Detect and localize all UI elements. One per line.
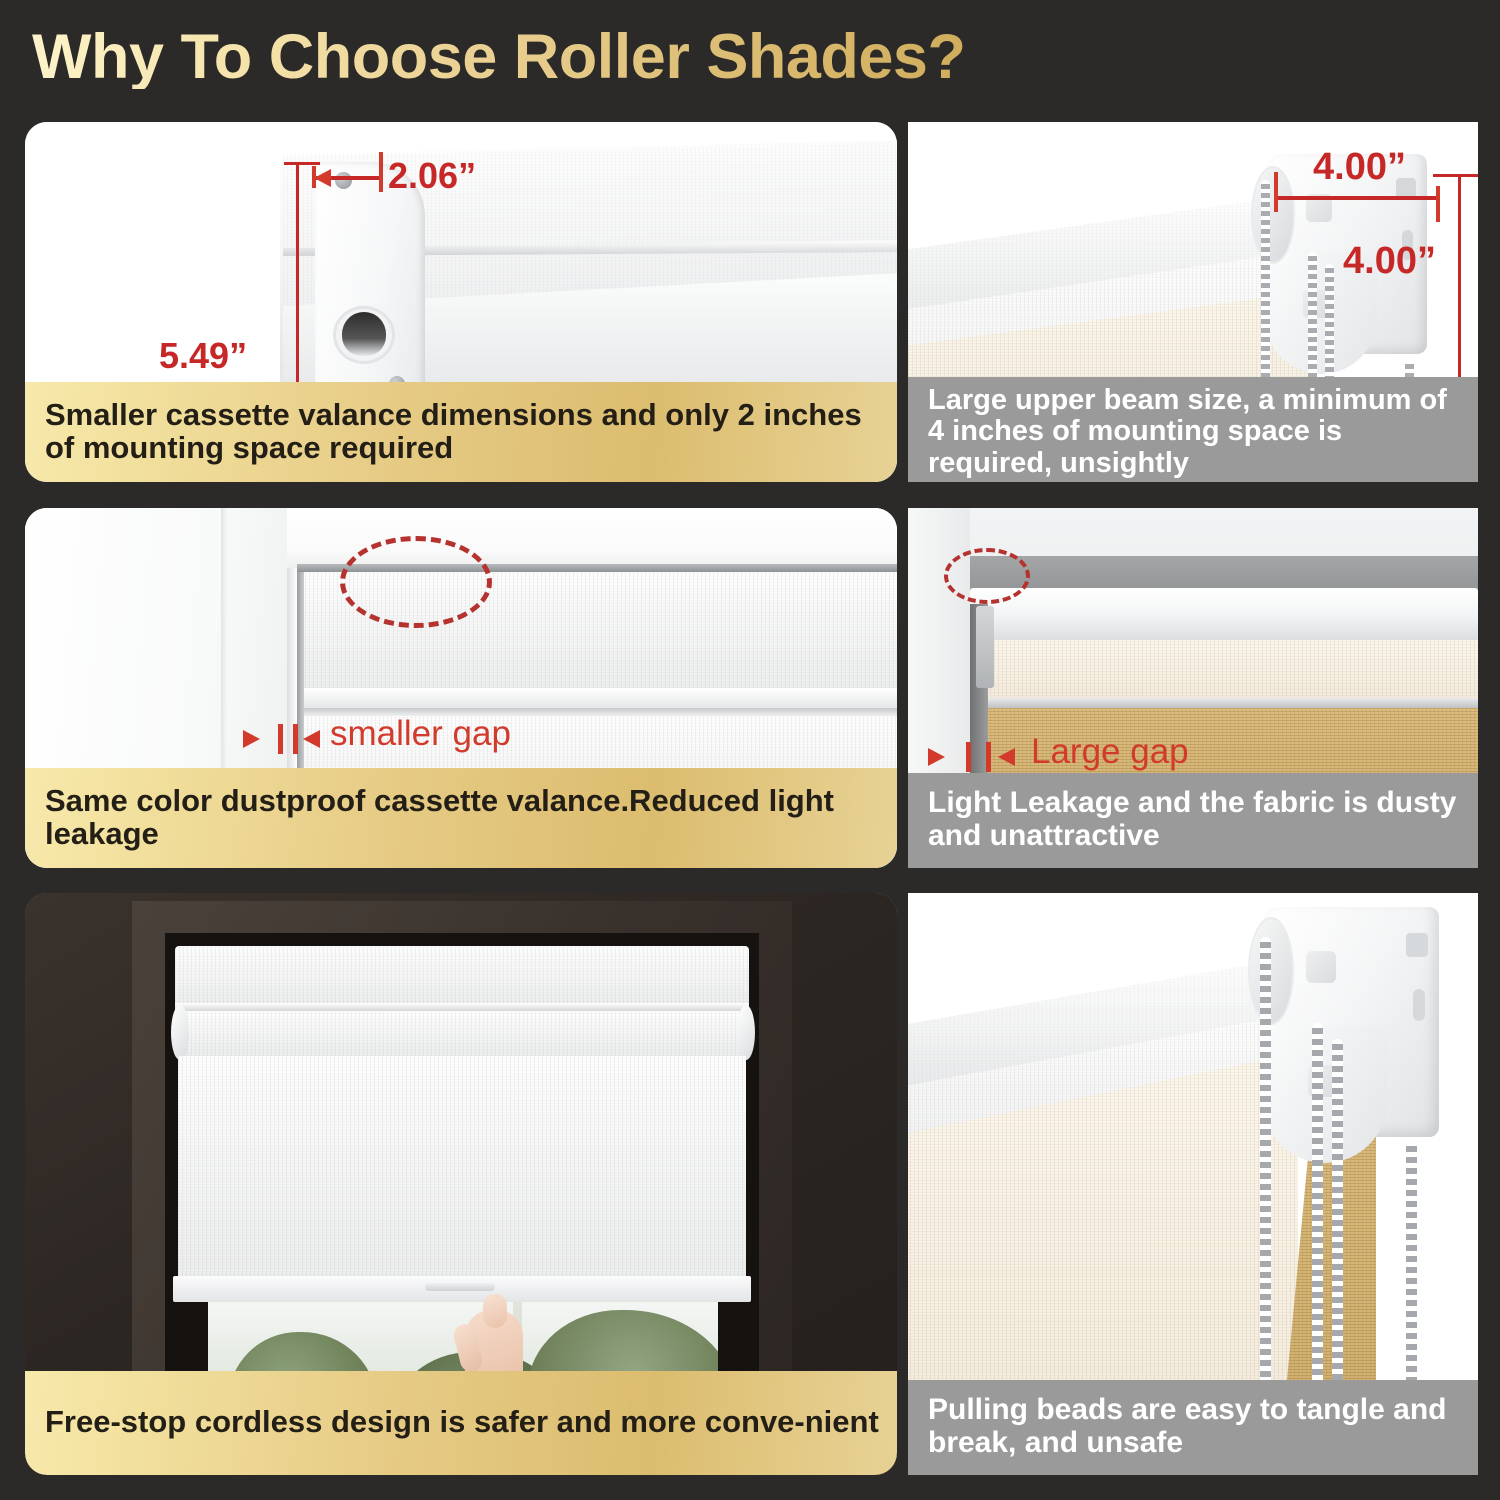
gap-tick-b [293, 724, 298, 754]
beam-height-cap-top [1433, 174, 1478, 177]
cassette-right-cap [737, 1005, 755, 1060]
large-gap-label: Large gap [1031, 732, 1189, 772]
cassette-left-cap [171, 1005, 189, 1060]
width-dim-arrow-left [314, 169, 331, 187]
panel-5-caption: Free-stop cordless design is safer and m… [25, 1371, 897, 1475]
roller-end-disc [1251, 166, 1295, 264]
width-dimension-label: 2.06” [388, 155, 476, 197]
large-gap-tick-a [966, 742, 971, 772]
panel-large-upper-beam: 4.00” 4.00” Large upper beam size, a min… [908, 122, 1478, 482]
valance-bottom-lip [297, 688, 897, 710]
panel-3-caption-text: Same color dustproof cassette valance.Re… [45, 784, 879, 851]
cordless-cassette-valance [175, 946, 749, 1008]
panel-6-caption: Pulling beads are easy to tangle and bre… [908, 1380, 1478, 1475]
large-gap-tick-b [986, 742, 991, 772]
exposed-roller-tube [970, 588, 1478, 644]
smaller-gap-label: smaller gap [330, 714, 511, 754]
beam-width-tick-left [1274, 172, 1278, 212]
fabric-lower-edge [970, 698, 1478, 708]
large-gap-arrow-right [998, 748, 1015, 766]
cordless-shade-fabric [178, 1056, 746, 1281]
panel-pulling-beads: Pulling beads are easy to tangle and bre… [908, 893, 1478, 1475]
page-title: Why To Choose Roller Shades? [32, 26, 965, 89]
large-gap-arrow-left [928, 748, 945, 766]
panel-3-caption: Same color dustproof cassette valance.Re… [25, 768, 897, 868]
panel-light-leakage: Large gap Light Leakage and the fabric i… [908, 508, 1478, 868]
bead-bracket-emboss-a [1306, 951, 1336, 983]
exposed-bracket [976, 606, 994, 688]
panel-1-caption-text: Smaller cassette valance dimensions and … [45, 398, 879, 465]
title-bar: Why To Choose Roller Shades? [0, 0, 1500, 118]
hand-finger [483, 1294, 507, 1328]
bracket-ring [333, 306, 395, 364]
panel-4-caption-text: Light Leakage and the fabric is dusty an… [928, 787, 1460, 852]
beam-width-dim-bar [1276, 196, 1438, 200]
height-dim-cap-top [284, 162, 320, 165]
bead-bracket-slot-a [1406, 933, 1428, 957]
cream-valance-fabric [970, 640, 1478, 702]
beam-width-label: 4.00” [1313, 146, 1406, 189]
panel-1-caption: Smaller cassette valance dimensions and … [25, 382, 897, 482]
bead-bracket-slot-b [1413, 989, 1425, 1021]
panel-4-caption: Light Leakage and the fabric is dusty an… [908, 773, 1478, 868]
panel-cordless-design: Free-stop cordless design is safer and m… [25, 893, 897, 1475]
beam-width-tick-right [1436, 186, 1440, 222]
panel-2-caption-text: Large upper beam size, a minimum of 4 in… [928, 385, 1460, 479]
bead-roller-end-disc [1248, 917, 1294, 1025]
gap-highlight-ellipse [944, 548, 1030, 604]
cassette-lower-roll [175, 1011, 749, 1056]
panel-smaller-cassette: 2.06” 5.49” Smaller cassette valance dim… [25, 122, 897, 482]
gap-tick-a [278, 724, 283, 754]
panel-2-caption: Large upper beam size, a minimum of 4 in… [908, 377, 1478, 482]
detail-highlight-ellipse [340, 536, 492, 628]
panel-5-caption-text: Free-stop cordless design is safer and m… [45, 1405, 879, 1438]
top-screw-icon [335, 172, 352, 189]
gap-arrow-right [303, 730, 320, 748]
beam-height-label: 4.00” [1343, 240, 1436, 283]
panel-dustproof-valance: smaller gap Same color dustproof cassett… [25, 508, 897, 868]
panel-6-caption-text: Pulling beads are easy to tangle and bre… [928, 1394, 1460, 1459]
width-dim-tick-right [379, 152, 383, 192]
height-dimension-label: 5.49” [159, 335, 247, 377]
gap-arrow-left [243, 730, 260, 748]
